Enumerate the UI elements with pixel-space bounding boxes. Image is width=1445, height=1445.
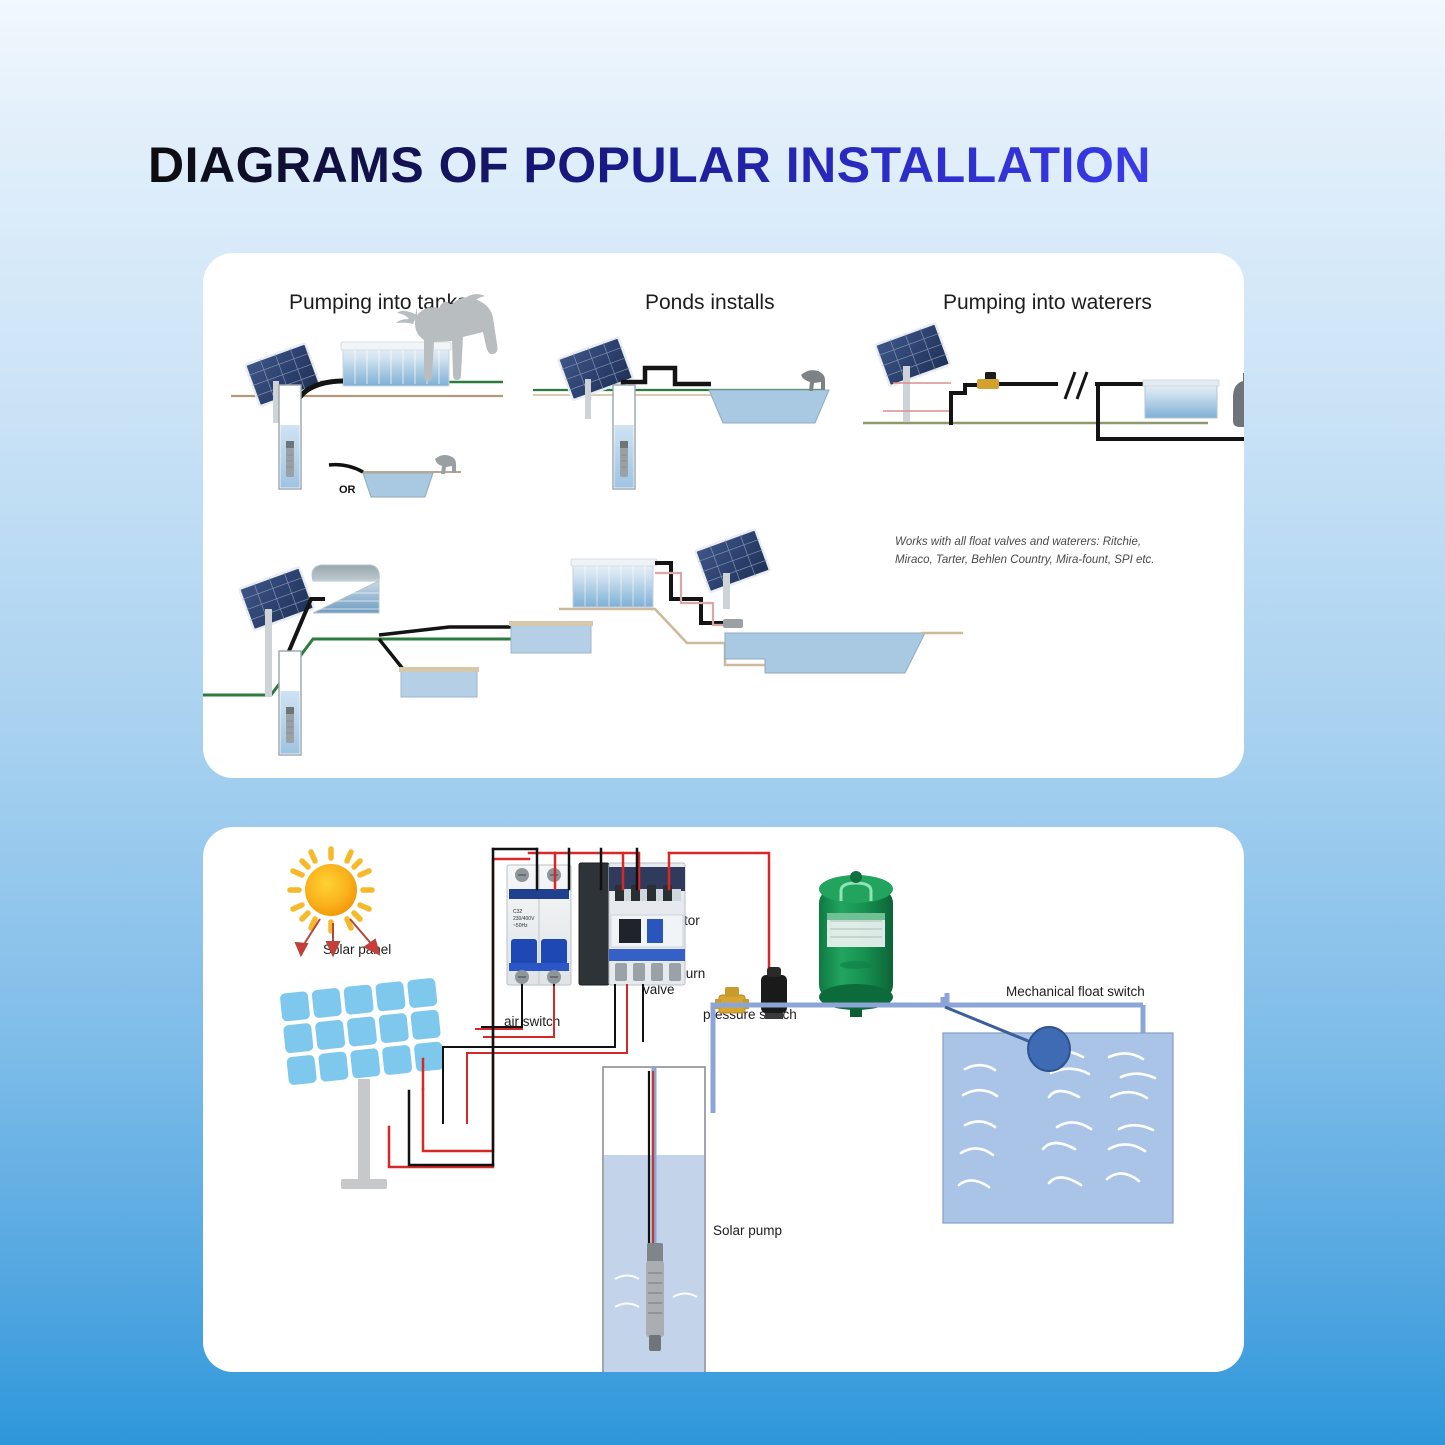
diagram-pumping-into-tanks [231,294,503,497]
battery [1233,373,1244,427]
label-solar-pump: Solar pump [713,1223,782,1238]
label-mechanical-float-switch: Mechanical float switch [1006,984,1145,999]
top-card-diagrams [203,253,1244,778]
svg-text:~50Hz: ~50Hz [513,923,528,929]
heading-ponds-installs: Ponds installs [645,291,775,315]
solar-pump-system-wiring-card: Solar panel air switch DC contactor non-… [203,827,1244,1372]
non-return-valve-line2: valve [643,982,675,997]
label-air-switch: air switch [504,1014,560,1029]
air-switch-graphic: C32230/400V~50Hz [507,865,571,985]
water-tank-graphic [943,1033,1173,1223]
heading-pumping-into-waterers: Pumping into waterers [943,291,1152,315]
diagram-pumping-into-waterers [863,323,1244,439]
tank-feed-pipe [893,1005,1143,1033]
or-label: OR [339,484,356,496]
sun-icon [290,849,372,931]
pressure-tank-graphic [819,871,893,1017]
non-return-valve-line1: non-return [643,966,705,981]
installation-diagrams-card: Pumping into tanks Ponds installs Pumpin… [203,253,1244,778]
diagram-elevated-tank-to-troughs [203,565,593,755]
solar-panel-graphic [280,978,445,1189]
waterers-note: Works with all float valves and waterers… [895,534,1180,570]
label-solar-panel: Solar panel [323,942,391,957]
heading-pumping-into-tanks: Pumping into tanks [289,291,468,315]
svg-text:C32: C32 [513,909,522,915]
svg-text:230/400V: 230/400V [513,916,535,922]
solar-pump-graphic [615,1067,697,1351]
diagram-ponds-installs [533,337,829,489]
well-graphic [603,1067,713,1372]
wiring-diagram: C32230/400V~50Hz [203,827,1244,1372]
page-title: DIAGRAMS OF POPULAR INSTALLATION [148,136,1151,194]
label-dc-contactor: DC contactor [621,913,700,928]
label-pressure-switch: pressure switch [703,1007,797,1022]
mechanical-float-switch-graphic [945,1007,1070,1071]
label-non-return-valve: non-return valve [643,966,715,998]
